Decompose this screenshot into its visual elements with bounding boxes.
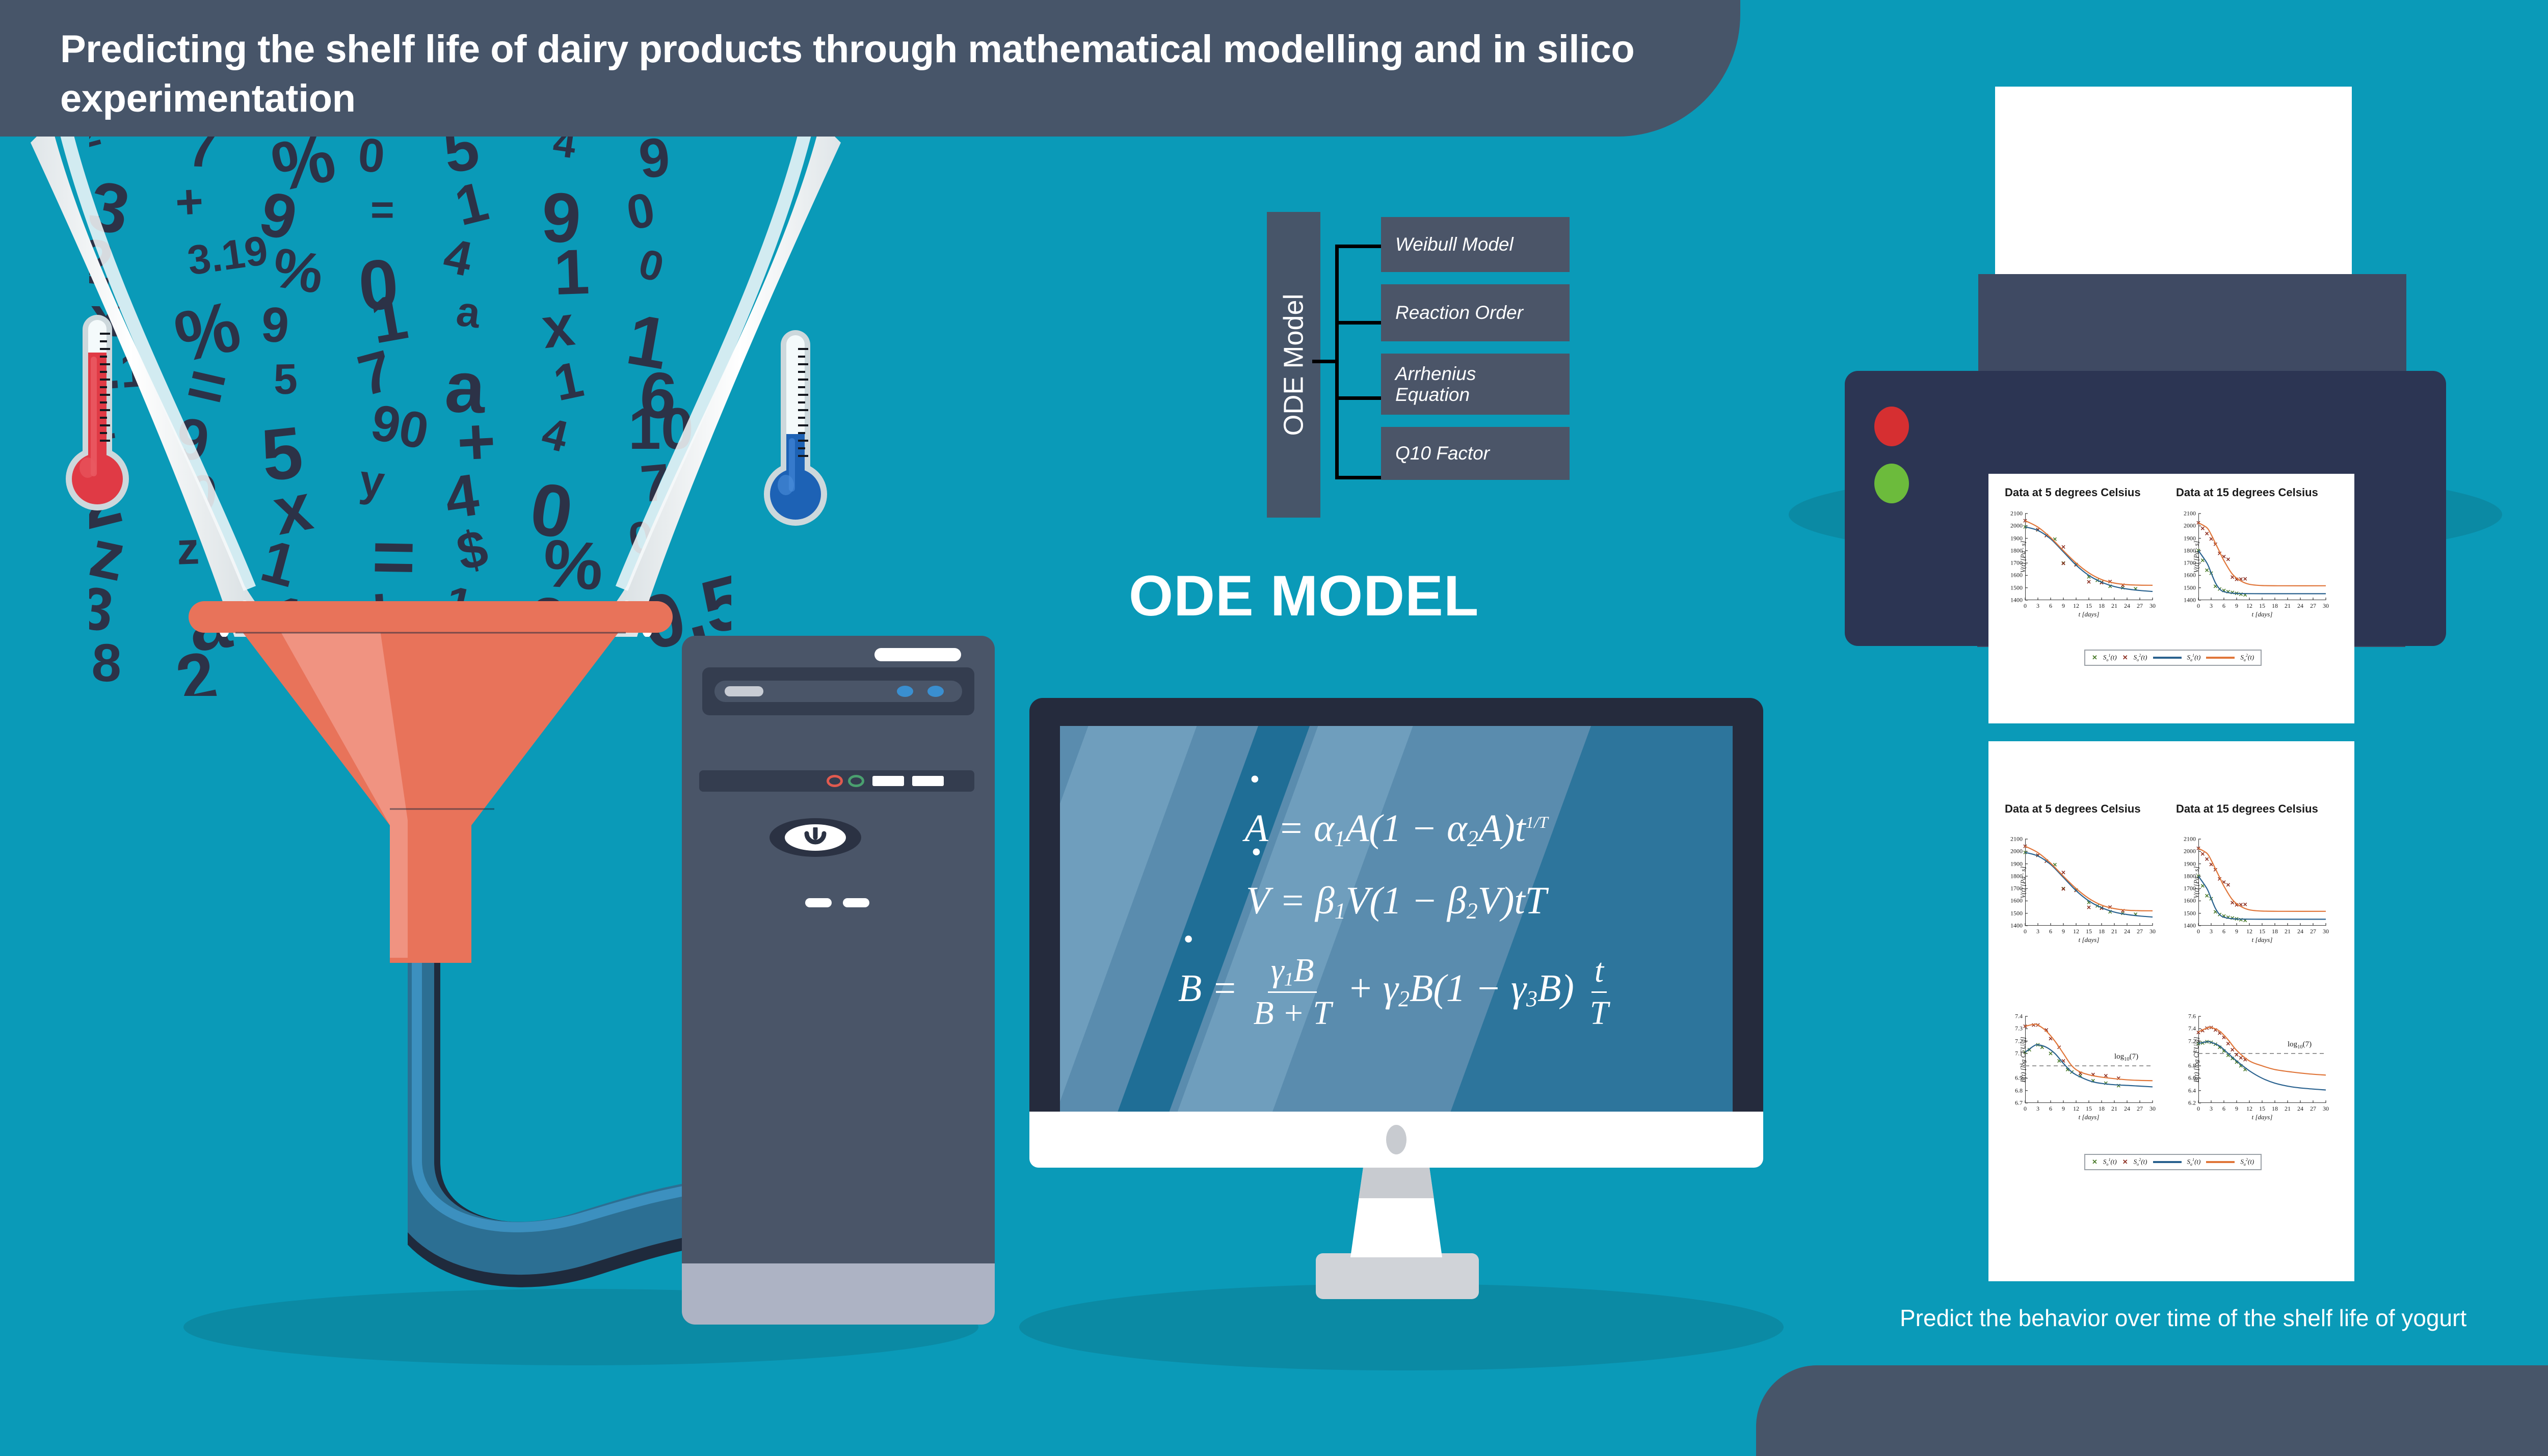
series-line [2198, 1027, 2326, 1075]
x-axis-tick-label: 9 [2235, 928, 2238, 935]
flowchart-item-arrhenius-equation[interactable]: Arrhenius Equation [1381, 354, 1570, 415]
y-axis-tick-label: 1400 [2184, 922, 2196, 930]
x-axis-tick-label: 12 [2246, 928, 2252, 935]
y-axis-label: B(t) [log CFU/g] [2019, 1024, 2027, 1095]
pc-power-button[interactable] [769, 818, 861, 857]
x-axis-tick-label: 12 [2073, 602, 2079, 610]
pc-optical-drive[interactable] [714, 681, 962, 702]
series-line [2198, 848, 2326, 911]
pc-tower-foot [682, 1263, 995, 1325]
x-axis-tick-label: 3 [2210, 602, 2213, 610]
x-axis-tick-label: 24 [2124, 602, 2130, 610]
x-axis-label: t [days] [2252, 1113, 2273, 1121]
series-markers [2024, 851, 2137, 916]
series-line [2198, 523, 2326, 586]
x-axis-label: t [days] [2079, 1113, 2100, 1121]
x-axis-tick-label: 30 [2149, 602, 2156, 610]
x-axis-tick-label: 18 [2099, 602, 2105, 610]
y-axis-tick-label: 7.4 [2015, 1013, 2023, 1020]
x-axis-tick-label: 15 [2259, 1105, 2265, 1113]
equations-group: A = α1A(1 − α2A)t1/T V = β1V(1 − β2V)tT … [1060, 726, 1733, 1113]
power-icon [798, 827, 833, 849]
legend-line-s1a [2153, 1161, 2182, 1163]
thermometer-cold-icon [759, 326, 851, 530]
legend-marker-s1o: ✕ [2092, 654, 2098, 662]
legend-label-s1a: Sa1(t) [2187, 1157, 2201, 1167]
y-axis-tick-label: 6.2 [2188, 1099, 2196, 1107]
y-axis-tick-label: 2100 [2184, 835, 2196, 843]
x-axis-tick-label: 0 [2024, 928, 2027, 935]
x-axis-tick-label: 9 [2235, 1105, 2238, 1113]
series-markers [2024, 526, 2137, 590]
chart-legend: ✕ So1(t) ✕ So2(t) Sa1(t) Sa2(t) [2084, 650, 2262, 666]
header-banner: Predicting the shelf life of dairy produ… [0, 0, 1740, 137]
pc-vent-slot-2 [843, 898, 869, 907]
printer-led-green-icon [1874, 464, 1909, 503]
x-axis-tick-label: 3 [2036, 602, 2039, 610]
series-markers [2197, 1026, 2246, 1061]
number-glyph: 8 [91, 632, 123, 694]
y-axis-label: V(t) [Pa · s] [2192, 521, 2200, 592]
y-axis-tick-label: 2100 [2010, 510, 2023, 518]
plot-v-15c: 1400150016001700180019002000210003691215… [2198, 514, 2326, 600]
prediction-caption: Predict the behavior over time of the sh… [1900, 1302, 2532, 1335]
series-markers [2024, 1023, 2120, 1080]
monitor-base [1316, 1253, 1479, 1299]
x-axis-tick-label: 27 [2137, 928, 2143, 935]
x-axis-tick-label: 3 [2210, 928, 2213, 935]
chart-title-15c: Data at 15 degrees Celsius [2176, 486, 2318, 499]
bottom-decorative-bar [1756, 1365, 2548, 1456]
printer-led-red-icon [1874, 407, 1909, 446]
x-axis-tick-label: 18 [2272, 1105, 2278, 1113]
x-axis-tick-label: 21 [2111, 1105, 2117, 1113]
pc-front-ports[interactable] [699, 770, 974, 792]
ode-model-flowchart: ODE Model Weibull Model Reaction Order A… [1259, 209, 1605, 525]
x-axis-tick-label: 27 [2310, 1105, 2316, 1113]
x-axis-tick-label: 15 [2086, 602, 2092, 610]
printed-chart-page-1[interactable]: Data at 5 degrees Celsius Data at 15 deg… [1988, 474, 2354, 723]
y-axis-label: B(t) [log CFU/g] [2192, 1024, 2200, 1095]
x-axis-tick-label: 9 [2235, 602, 2238, 610]
usb-port-2-icon[interactable] [912, 776, 944, 786]
flowchart-branch-3 [1335, 396, 1384, 400]
pc-tower[interactable] [682, 636, 995, 1325]
x-axis-tick-label: 18 [2272, 928, 2278, 935]
x-axis-tick-label: 3 [2036, 1105, 2039, 1113]
plot-v-15c: 1400150016001700180019002000210003691215… [2198, 839, 2326, 926]
flowchart-stem [1312, 360, 1338, 363]
legend-line-s2a [2206, 1161, 2235, 1163]
x-axis-tick-label: 15 [2259, 602, 2265, 610]
y-axis-tick-label: 1400 [2010, 922, 2023, 930]
number-glyph: a [454, 287, 483, 338]
x-axis-tick-label: 27 [2310, 602, 2316, 610]
equation-B: B = γ1BB + T + γ2B(1 − γ3B) tT [1178, 952, 1614, 1033]
x-axis-tick-label: 6 [2049, 602, 2052, 610]
legend-label-s2a: Sa2(t) [2240, 653, 2254, 662]
series-markers [2197, 522, 2246, 581]
x-axis-tick-label: 6 [2049, 1105, 2052, 1113]
x-axis-tick-label: 15 [2259, 928, 2265, 935]
x-axis-label: t [days] [2252, 610, 2273, 618]
x-axis-tick-label: 12 [2246, 602, 2252, 610]
plot-b-15c: 6.26.46.66.877.27.47.6036912151821242730… [2198, 1016, 2326, 1103]
x-axis-tick-label: 6 [2222, 928, 2225, 935]
mic-in-jack-icon[interactable] [848, 775, 864, 787]
x-axis-tick-label: 0 [2024, 602, 2027, 610]
pc-indicator-dot-2 [927, 686, 944, 697]
chart-title-5c: Data at 5 degrees Celsius [2005, 802, 2141, 816]
y-axis-tick-label: 7.6 [2188, 1013, 2196, 1020]
series-markers [2197, 1040, 2246, 1071]
x-axis-tick-label: 24 [2124, 1105, 2130, 1113]
x-axis-tick-label: 3 [2036, 928, 2039, 935]
monitor[interactable]: A = α1A(1 − α2A)t1/T V = β1V(1 − β2V)tT … [1029, 698, 1794, 1263]
legend-marker-s1o: ✕ [2092, 1158, 2098, 1166]
pc-vent-slot-1 [805, 898, 832, 907]
x-axis-tick-label: 30 [2149, 928, 2156, 935]
x-axis-tick-label: 21 [2285, 928, 2291, 935]
x-axis-tick-label: 0 [2197, 928, 2200, 935]
flowchart-item-label: Reaction Order [1395, 302, 1523, 323]
flowchart-root-node: ODE Model [1267, 212, 1320, 518]
x-axis-tick-label: 3 [2210, 1105, 2213, 1113]
x-axis-tick-label: 18 [2099, 1105, 2105, 1113]
x-axis-tick-label: 0 [2197, 602, 2200, 610]
chart-title-5c: Data at 5 degrees Celsius [2005, 486, 2141, 499]
thermometer-hot-icon [61, 311, 153, 515]
flowchart-item-label: Weibull Model [1395, 234, 1514, 255]
plot-v-5c: 1400150016001700180019002000210003691215… [2025, 514, 2153, 600]
ode-model-heading: ODE MODEL [1129, 563, 1479, 629]
y-axis-label: V(t) [Pa · s] [2019, 521, 2027, 592]
y-axis-label: V(t) [Pa · s] [2019, 847, 2027, 918]
legend-marker-s2o: ✕ [2122, 654, 2128, 662]
plot-b-5c: 6.76.86.977.17.27.37.4036912151821242730… [2025, 1016, 2153, 1103]
flowchart-item-weibull-model[interactable]: Weibull Model [1381, 217, 1570, 272]
legend-line-s1a [2153, 657, 2182, 659]
chart-title-15c: Data at 15 degrees Celsius [2176, 802, 2318, 816]
x-axis-tick-label: 6 [2222, 602, 2225, 610]
x-axis-tick-label: 30 [2149, 1105, 2156, 1113]
legend-label-s1a: Sa1(t) [2187, 653, 2201, 662]
y-axis-tick-label: 1400 [2184, 597, 2196, 604]
x-axis-tick-label: 6 [2049, 928, 2052, 935]
x-axis-tick-label: 15 [2086, 928, 2092, 935]
x-axis-tick-label: 27 [2310, 928, 2316, 935]
flowchart-item-label: Q10 Factor [1395, 443, 1490, 464]
x-axis-tick-label: 24 [2297, 928, 2303, 935]
x-axis-tick-label: 18 [2099, 928, 2105, 935]
monitor-screen[interactable]: A = α1A(1 − α2A)t1/T V = β1V(1 − β2V)tT … [1060, 726, 1733, 1113]
pc-indicator-dot-1 [897, 686, 913, 697]
flowchart-item-reaction-order[interactable]: Reaction Order [1381, 284, 1570, 341]
plot-v-5c: 1400150016001700180019002000210003691215… [2025, 839, 2153, 926]
usb-port-1-icon[interactable] [872, 776, 904, 786]
legend-label-s2o: So2(t) [2134, 653, 2147, 662]
x-axis-tick-label: 21 [2111, 602, 2117, 610]
legend-label-s1o: So1(t) [2103, 1157, 2117, 1167]
x-axis-tick-label: 0 [2197, 1105, 2200, 1113]
y-axis-tick-label: 1400 [2010, 597, 2023, 604]
x-axis-tick-label: 12 [2073, 1105, 2079, 1113]
legend-marker-s2o: ✕ [2122, 1158, 2128, 1166]
pc-optical-drive-bay[interactable] [702, 667, 974, 715]
x-axis-tick-label: 9 [2062, 602, 2065, 610]
audio-out-jack-icon[interactable] [827, 775, 843, 787]
flowchart-item-label: Arrhenius Equation [1395, 363, 1548, 406]
equation-V: V = β1V(1 − β2V)tT [1246, 879, 1547, 924]
y-axis-label: V(t) [Pa · s] [2192, 847, 2200, 918]
legend-label-s1o: So1(t) [2103, 653, 2117, 662]
x-axis-tick-label: 15 [2086, 1105, 2092, 1113]
x-axis-tick-label: 9 [2062, 928, 2065, 935]
series-line [2198, 876, 2326, 920]
series-line [2198, 551, 2326, 594]
x-axis-tick-label: 30 [2323, 928, 2329, 935]
pc-tower-body [682, 636, 995, 1325]
x-axis-tick-label: 24 [2297, 1105, 2303, 1113]
flowchart-branch-1 [1335, 245, 1384, 248]
x-axis-tick-label: 6 [2222, 1105, 2225, 1113]
x-axis-tick-label: 21 [2285, 602, 2291, 610]
x-axis-label: t [days] [2079, 936, 2100, 944]
x-axis-tick-label: 9 [2062, 1105, 2065, 1113]
page-title: Predicting the shelf life of dairy produ… [60, 24, 1665, 124]
monitor-indicator-icon [1386, 1125, 1406, 1154]
x-axis-tick-label: 27 [2137, 1105, 2143, 1113]
legend-label-s2o: So2(t) [2134, 1157, 2147, 1167]
pc-eject-button[interactable] [725, 686, 763, 696]
flowchart-item-q10-factor[interactable]: Q10 Factor [1381, 427, 1570, 480]
x-axis-tick-label: 21 [2285, 1105, 2291, 1113]
y-axis-tick-label: 2100 [2010, 835, 2023, 843]
legend-label-s2a: Sa2(t) [2240, 1157, 2254, 1167]
x-axis-tick-label: 12 [2073, 928, 2079, 935]
pc-top-slot [874, 648, 961, 661]
x-axis-tick-label: 27 [2137, 602, 2143, 610]
x-axis-tick-label: 0 [2024, 1105, 2027, 1113]
x-axis-tick-label: 30 [2323, 1105, 2329, 1113]
equation-A: A = α1A(1 − α2A)t1/T [1244, 806, 1548, 852]
number-glyph: 4 [439, 228, 477, 288]
funnel-icon [189, 601, 673, 978]
x-axis-tick-label: 24 [2124, 928, 2130, 935]
monitor-neck-top [1350, 1167, 1442, 1198]
printed-chart-page-2[interactable]: Data at 5 degrees Celsius Data at 15 deg… [1988, 741, 2354, 1281]
y-axis-tick-label: 2100 [2184, 510, 2196, 518]
series-markers [2197, 847, 2246, 906]
y-axis-tick-label: 6.7 [2015, 1099, 2023, 1107]
x-axis-tick-label: 21 [2111, 928, 2117, 935]
flowchart-root-label: ODE Model [1278, 293, 1310, 436]
threshold-annotation: log10(7) [2114, 1053, 2138, 1062]
threshold-annotation: log10(7) [2288, 1040, 2312, 1050]
flowchart-branch-2 [1335, 321, 1384, 325]
x-axis-tick-label: 12 [2246, 1105, 2252, 1113]
x-axis-tick-label: 30 [2323, 602, 2329, 610]
x-axis-label: t [days] [2252, 936, 2273, 944]
chart-legend: ✕ So1(t) ✕ So2(t) Sa1(t) Sa2(t) [2084, 1154, 2262, 1170]
x-axis-tick-label: 18 [2272, 602, 2278, 610]
flowchart-branch-4 [1335, 476, 1384, 479]
x-axis-label: t [days] [2079, 610, 2100, 618]
x-axis-tick-label: 24 [2297, 602, 2303, 610]
legend-line-s2a [2206, 657, 2235, 659]
monitor-bezel: A = α1A(1 − α2A)t1/T V = β1V(1 − β2V)tT … [1029, 698, 1763, 1136]
